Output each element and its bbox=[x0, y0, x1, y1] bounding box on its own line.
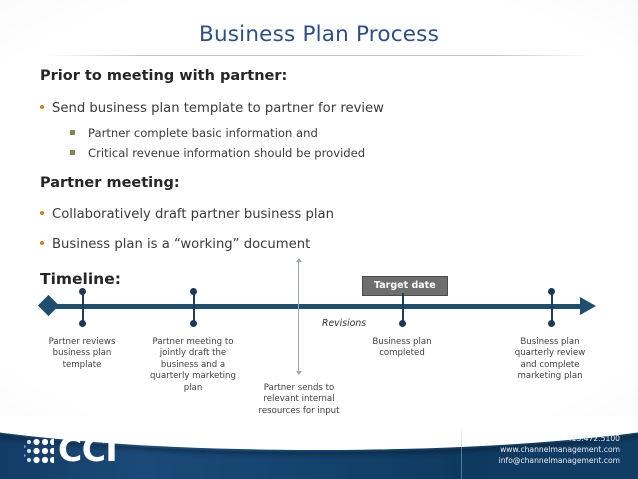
title-divider bbox=[44, 55, 594, 56]
bullet-send-template: Send business plan template to partner f… bbox=[40, 101, 384, 116]
milestone-node-dot-icon bbox=[190, 320, 197, 327]
timeline-label-plan-completed: Business plan completed bbox=[360, 337, 444, 360]
heading-prior-to-meeting: Prior to meeting with partner: bbox=[40, 68, 287, 84]
sub-bullet-critical-revenue-label: Critical revenue information should be p… bbox=[88, 146, 365, 160]
bullet-working-document-label: Business plan is a “working” document bbox=[52, 237, 310, 252]
heading-timeline: Timeline: bbox=[40, 270, 121, 288]
timeline-label-partner-reviews: Partner reviews business plan template bbox=[44, 337, 120, 371]
square-bullet-icon bbox=[70, 150, 75, 155]
square-bullet-icon bbox=[70, 130, 75, 135]
bullet-dot-icon bbox=[40, 241, 44, 245]
milestone-node-dot-icon bbox=[190, 288, 197, 295]
sub-bullet-partner-basic-info: Partner complete basic information and bbox=[70, 126, 318, 140]
timeline-label-partner-meeting: Partner meeting to jointly draft the bus… bbox=[143, 337, 243, 394]
timeline-arrow-icon bbox=[580, 297, 596, 315]
sub-bullet-partner-basic-info-label: Partner complete basic information and bbox=[88, 126, 318, 140]
milestone-node-dot-icon bbox=[399, 320, 406, 327]
milestone-node-dot-icon bbox=[548, 320, 555, 327]
cci-dot-grid-logo-icon bbox=[24, 437, 54, 465]
milestone-stem-light bbox=[298, 262, 299, 373]
sub-bullet-critical-revenue: Critical revenue information should be p… bbox=[70, 146, 365, 160]
footer-phone: 415.472.5100 bbox=[567, 433, 620, 444]
bullet-collaborative-draft-label: Collaboratively draft partner business p… bbox=[52, 207, 334, 222]
target-date-stem bbox=[402, 293, 404, 323]
bullet-send-template-label: Send business plan template to partner f… bbox=[52, 101, 384, 116]
milestone-stem bbox=[82, 291, 84, 323]
slide: Business Plan Process Prior to meeting w… bbox=[0, 0, 638, 479]
heading-partner-meeting: Partner meeting: bbox=[40, 175, 180, 191]
cci-wordmark: CCI bbox=[58, 430, 117, 469]
timeline-axis bbox=[56, 304, 583, 309]
timeline-label-revisions: Revisions bbox=[322, 318, 366, 329]
target-date-badge: Target date bbox=[362, 276, 448, 296]
footer-email[interactable]: info@channelmanagement.com bbox=[499, 455, 620, 466]
bullet-collaborative-draft: Collaboratively draft partner business p… bbox=[40, 207, 334, 222]
milestone-stem bbox=[551, 291, 553, 323]
timeline-label-partner-sends: Partner sends to relevant internal resou… bbox=[249, 383, 349, 417]
milestone-node-dot-icon bbox=[548, 288, 555, 295]
milestone-node-dot-icon bbox=[79, 320, 86, 327]
bullet-dot-icon bbox=[40, 105, 44, 109]
timeline-label-quarterly-review: Business plan quarterly review and compl… bbox=[508, 337, 592, 383]
connector-arrow-down-icon bbox=[296, 371, 302, 375]
milestone-stem bbox=[193, 291, 195, 323]
footer-website[interactable]: www.channelmanagement.com bbox=[500, 444, 620, 455]
page-title: Business Plan Process bbox=[0, 22, 638, 47]
bullet-working-document: Business plan is a “working” document bbox=[40, 237, 310, 252]
milestone-node-dot-icon bbox=[79, 288, 86, 295]
footer-divider bbox=[461, 424, 462, 479]
bullet-dot-icon bbox=[40, 211, 44, 215]
